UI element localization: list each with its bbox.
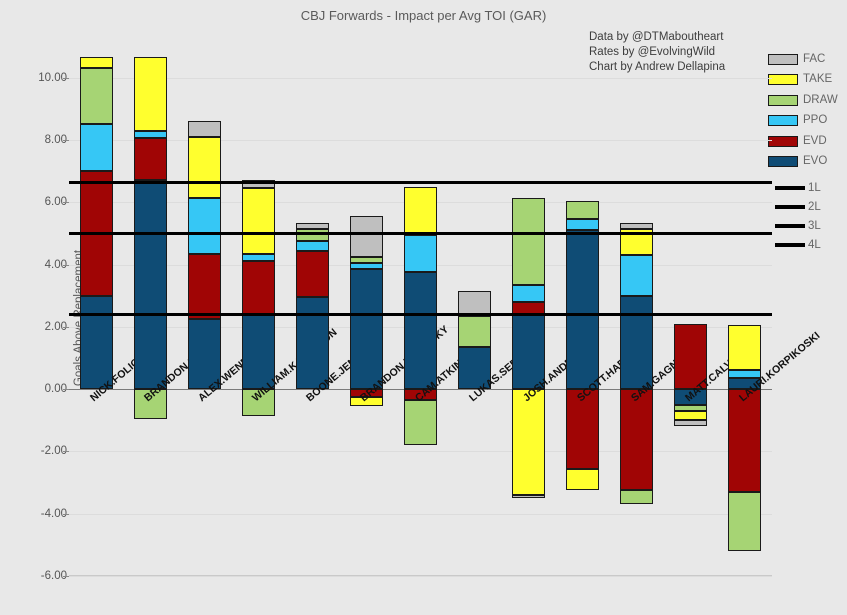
y-axis-tick-mark: [63, 140, 69, 141]
bar-column[interactable]: [458, 59, 491, 576]
line-legend-label-2l: 2L: [808, 201, 821, 213]
bar-column[interactable]: [404, 59, 437, 576]
line-legend-label-4l: 4L: [808, 239, 821, 251]
bar-segment-fac[interactable]: [620, 223, 653, 229]
bar-segment-draw[interactable]: [350, 257, 383, 263]
legend-item-draw[interactable]: DRAW: [768, 90, 838, 111]
legend-swatch-evd: [768, 136, 798, 147]
bar-segment-evd[interactable]: [188, 254, 221, 319]
reference-line-legend: 1L2L3L4L: [775, 178, 821, 254]
legend-swatch-evo: [768, 156, 798, 167]
bar-segment-evd[interactable]: [242, 261, 275, 314]
legend-label-ppo: PPO: [803, 115, 827, 126]
legend-item-evd[interactable]: EVD: [768, 131, 838, 152]
bar-segment-draw[interactable]: [728, 492, 761, 551]
bar-segment-ppo[interactable]: [620, 255, 653, 295]
legend-item-evo[interactable]: EVO: [768, 152, 838, 173]
bar-segment-take[interactable]: [512, 389, 545, 495]
bar-segment-take[interactable]: [134, 57, 167, 130]
y-axis-tick-mark: [63, 514, 69, 515]
bar-segment-fac[interactable]: [188, 121, 221, 137]
bar-column[interactable]: [242, 59, 275, 576]
bar-segment-draw[interactable]: [620, 490, 653, 504]
legend-swatch-fac: [768, 54, 798, 65]
bar-segment-ppo[interactable]: [296, 241, 329, 250]
bar-segment-ppo[interactable]: [80, 124, 113, 171]
line-legend-swatch-4l: [775, 243, 805, 247]
plot-area: Goals Above Replacement 10.008.006.004.0…: [69, 59, 772, 576]
bar-segment-evo[interactable]: [620, 296, 653, 389]
bar-segment-ppo[interactable]: [512, 285, 545, 302]
bar-segment-fac[interactable]: [674, 420, 707, 426]
legend-label-fac: FAC: [803, 54, 825, 65]
legend-swatch-ppo: [768, 115, 798, 126]
line-legend-swatch-1l: [775, 186, 805, 190]
legend-item-ppo[interactable]: PPO: [768, 111, 838, 132]
bar-segment-ppo[interactable]: [404, 235, 437, 272]
bar-segment-ppo[interactable]: [350, 263, 383, 269]
bar-segment-evo[interactable]: [134, 180, 167, 389]
y-axis-tick-mark: [63, 576, 69, 577]
chart-root: CBJ Forwards - Impact per Avg TOI (GAR) …: [0, 0, 847, 615]
legend-label-evo: EVO: [803, 156, 827, 167]
line-legend-item-2l[interactable]: 2L: [775, 197, 821, 216]
bar-segment-ppo[interactable]: [242, 254, 275, 262]
bar-segment-ppo[interactable]: [134, 131, 167, 139]
chart-legend: FACTAKEDRAWPPOEVDEVO: [768, 49, 838, 172]
y-axis-tick-mark: [63, 202, 69, 203]
reference-line-3l: [69, 232, 772, 235]
bar-segment-draw[interactable]: [404, 400, 437, 445]
bar-column[interactable]: [188, 59, 221, 576]
bar-segment-draw[interactable]: [512, 198, 545, 285]
bar-column[interactable]: [512, 59, 545, 576]
bar-column[interactable]: [620, 59, 653, 576]
bar-segment-evd[interactable]: [728, 389, 761, 492]
bar-segment-take[interactable]: [188, 137, 221, 198]
bar-segment-evo[interactable]: [404, 272, 437, 389]
line-legend-item-1l[interactable]: 1L: [775, 178, 821, 197]
bar-segment-evo[interactable]: [80, 296, 113, 389]
bar-column[interactable]: [80, 59, 113, 576]
bar-segment-fac[interactable]: [350, 216, 383, 256]
legend-label-evd: EVD: [803, 136, 827, 147]
bar-segment-evo[interactable]: [350, 269, 383, 389]
legend-item-take[interactable]: TAKE: [768, 70, 838, 91]
line-legend-label-3l: 3L: [808, 220, 821, 232]
bar-segment-take[interactable]: [728, 325, 761, 370]
bar-column[interactable]: [674, 59, 707, 576]
bar-segment-evd[interactable]: [296, 251, 329, 298]
bar-column[interactable]: [350, 59, 383, 576]
bar-segment-take[interactable]: [404, 187, 437, 235]
bar-segment-take[interactable]: [674, 411, 707, 420]
legend-label-take: TAKE: [803, 74, 832, 85]
bar-column[interactable]: [728, 59, 761, 576]
bar-segment-draw[interactable]: [80, 68, 113, 124]
legend-swatch-take: [768, 74, 798, 85]
line-legend-item-4l[interactable]: 4L: [775, 235, 821, 254]
credit-data: Data by @DTMaboutheart: [589, 30, 725, 45]
legend-swatch-draw: [768, 95, 798, 106]
gridline: [69, 576, 772, 577]
legend-item-fac[interactable]: FAC: [768, 49, 838, 70]
bar-column[interactable]: [134, 59, 167, 576]
reference-line-1l: [69, 181, 772, 184]
bar-segment-fac[interactable]: [296, 223, 329, 229]
bar-segment-draw[interactable]: [458, 316, 491, 347]
legend-label-draw: DRAW: [803, 95, 838, 106]
line-legend-swatch-2l: [775, 205, 805, 209]
bar-segment-evd[interactable]: [134, 138, 167, 180]
y-axis-tick-mark: [63, 451, 69, 452]
bar-segment-evo[interactable]: [296, 297, 329, 389]
y-axis-tick-mark: [63, 78, 69, 79]
line-legend-item-3l[interactable]: 3L: [775, 216, 821, 235]
bar-segment-take[interactable]: [242, 188, 275, 253]
bar-column[interactable]: [296, 59, 329, 576]
bar-segment-take[interactable]: [566, 469, 599, 491]
y-axis-tick-mark: [63, 327, 69, 328]
bar-segment-take[interactable]: [80, 57, 113, 68]
bar-segment-draw[interactable]: [566, 201, 599, 220]
line-legend-label-1l: 1L: [808, 182, 821, 194]
bar-segment-evd[interactable]: [620, 389, 653, 490]
reference-line-4l: [69, 313, 772, 316]
y-axis-tick-mark: [63, 265, 69, 266]
bar-column[interactable]: [566, 59, 599, 576]
bar-segment-fac[interactable]: [512, 495, 545, 498]
bar-segment-ppo[interactable]: [188, 198, 221, 254]
bar-segment-evo[interactable]: [566, 230, 599, 389]
bar-segment-ppo[interactable]: [566, 219, 599, 230]
chart-title: CBJ Forwards - Impact per Avg TOI (GAR): [0, 8, 847, 23]
credit-rates: Rates by @EvolvingWild: [589, 45, 725, 60]
line-legend-swatch-3l: [775, 224, 805, 228]
